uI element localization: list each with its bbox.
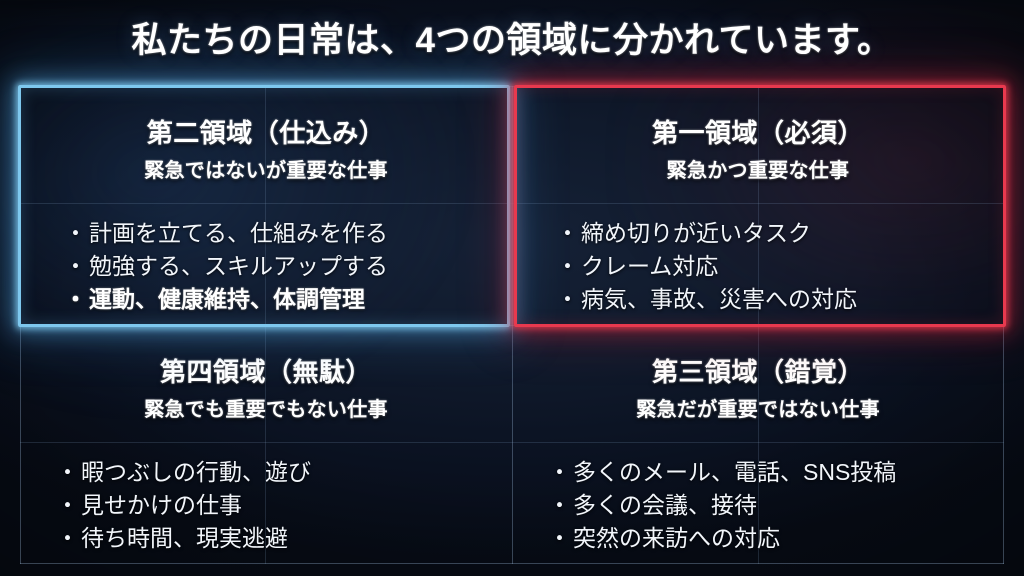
bullet-icon: ・ [56, 489, 79, 522]
quadrant-three-header: 第三領域（錯覚） 緊急だが重要ではない仕事 [512, 325, 1004, 442]
bullet-icon: ・ [64, 283, 87, 316]
list-item-label: 締め切りが近いタスク [581, 220, 811, 246]
bullet-icon: ・ [556, 217, 579, 250]
list-item: ・多くのメール、電話、SNS投稿 [548, 456, 896, 489]
list-item: ・締め切りが近いタスク [556, 217, 857, 250]
list-item-label: 見せかけの仕事 [81, 492, 242, 518]
quadrant-three-title: 第三領域（錯覚） [652, 352, 864, 389]
quadrant-two-list: ・計画を立てる、仕組みを作る ・勉強する、スキルアップする ・運動、健康維持、体… [20, 217, 388, 316]
bullet-icon: ・ [64, 250, 87, 283]
title-bar: 私たちの日常は、4つの領域に分かれています。 [0, 8, 1024, 66]
quadrant-two[interactable]: 第二領域（仕込み） 緊急ではないが重要な仕事 ・計画を立てる、仕組みを作る ・勉… [20, 86, 512, 325]
list-item-label: クレーム対応 [581, 253, 718, 279]
quadrant-three-body: ・多くのメール、電話、SNS投稿 ・多くの会議、接待 ・突然の来訪への対応 [512, 442, 1004, 564]
list-item: ・暇つぶしの行動、遊び [56, 456, 311, 489]
quadrant-two-title: 第二領域（仕込み） [147, 113, 386, 150]
list-item-label: 待ち時間、現実逃避 [81, 525, 288, 551]
quadrant-one-list: ・締め切りが近いタスク ・クレーム対応 ・病気、事故、災害への対応 [512, 217, 857, 316]
list-item-label: 計画を立てる、仕組みを作る [89, 220, 388, 246]
list-item-label: 運動、健康維持、体調管理 [89, 286, 365, 312]
quadrant-one-body: ・締め切りが近いタスク ・クレーム対応 ・病気、事故、災害への対応 [512, 203, 1004, 325]
quadrant-four-subtitle: 緊急でも重要でもない仕事 [144, 393, 388, 422]
bullet-icon: ・ [548, 522, 571, 555]
quadrant-three-list: ・多くのメール、電話、SNS投稿 ・多くの会議、接待 ・突然の来訪への対応 [512, 456, 896, 555]
list-item-label: 病気、事故、災害への対応 [581, 286, 857, 312]
quadrant-one-title: 第一領域（必須） [652, 113, 864, 150]
bullet-icon: ・ [556, 250, 579, 283]
list-item: ・多くの会議、接待 [548, 489, 896, 522]
page-title: 私たちの日常は、4つの領域に分かれています。 [132, 12, 893, 63]
bullet-icon: ・ [56, 522, 79, 555]
quadrant-two-subtitle: 緊急ではないが重要な仕事 [144, 154, 388, 183]
quadrant-one-header: 第一領域（必須） 緊急かつ重要な仕事 [512, 86, 1004, 203]
list-item: ・勉強する、スキルアップする [64, 250, 388, 283]
quadrant-four[interactable]: 第四領域（無駄） 緊急でも重要でもない仕事 ・暇つぶしの行動、遊び ・見せかけの… [20, 325, 512, 564]
quadrant-four-list: ・暇つぶしの行動、遊び ・見せかけの仕事 ・待ち時間、現実逃避 [20, 456, 311, 555]
bullet-icon: ・ [548, 456, 571, 489]
quadrant-four-body: ・暇つぶしの行動、遊び ・見せかけの仕事 ・待ち時間、現実逃避 [20, 442, 512, 564]
quadrant-four-header: 第四領域（無駄） 緊急でも重要でもない仕事 [20, 325, 512, 442]
list-item: ・見せかけの仕事 [56, 489, 311, 522]
bullet-icon: ・ [64, 217, 87, 250]
list-item: ・病気、事故、災害への対応 [556, 283, 857, 316]
list-item-label: 多くの会議、接待 [573, 492, 757, 518]
list-item: ・運動、健康維持、体調管理 [64, 283, 388, 316]
list-item-label: 勉強する、スキルアップする [89, 253, 388, 279]
quadrant-four-title: 第四領域（無駄） [160, 352, 372, 389]
bullet-icon: ・ [548, 489, 571, 522]
quadrant-two-header: 第二領域（仕込み） 緊急ではないが重要な仕事 [20, 86, 512, 203]
list-item-label: 多くのメール、電話、SNS投稿 [573, 459, 896, 485]
list-item: ・計画を立てる、仕組みを作る [64, 217, 388, 250]
bullet-icon: ・ [556, 283, 579, 316]
list-item: ・待ち時間、現実逃避 [56, 522, 311, 555]
quadrant-three[interactable]: 第三領域（錯覚） 緊急だが重要ではない仕事 ・多くのメール、電話、SNS投稿 ・… [512, 325, 1004, 564]
quadrant-one[interactable]: 第一領域（必須） 緊急かつ重要な仕事 ・締め切りが近いタスク ・クレーム対応 ・… [512, 86, 1004, 325]
quadrant-two-body: ・計画を立てる、仕組みを作る ・勉強する、スキルアップする ・運動、健康維持、体… [20, 203, 512, 325]
list-item: ・突然の来訪への対応 [548, 522, 896, 555]
bullet-icon: ・ [56, 456, 79, 489]
quadrant-one-subtitle: 緊急かつ重要な仕事 [667, 154, 850, 183]
list-item-label: 突然の来訪への対応 [573, 525, 780, 551]
quadrant-three-subtitle: 緊急だが重要ではない仕事 [636, 393, 880, 422]
list-item: ・クレーム対応 [556, 250, 857, 283]
time-management-matrix: 第二領域（仕込み） 緊急ではないが重要な仕事 ・計画を立てる、仕組みを作る ・勉… [20, 86, 1004, 564]
list-item-label: 暇つぶしの行動、遊び [81, 459, 311, 485]
